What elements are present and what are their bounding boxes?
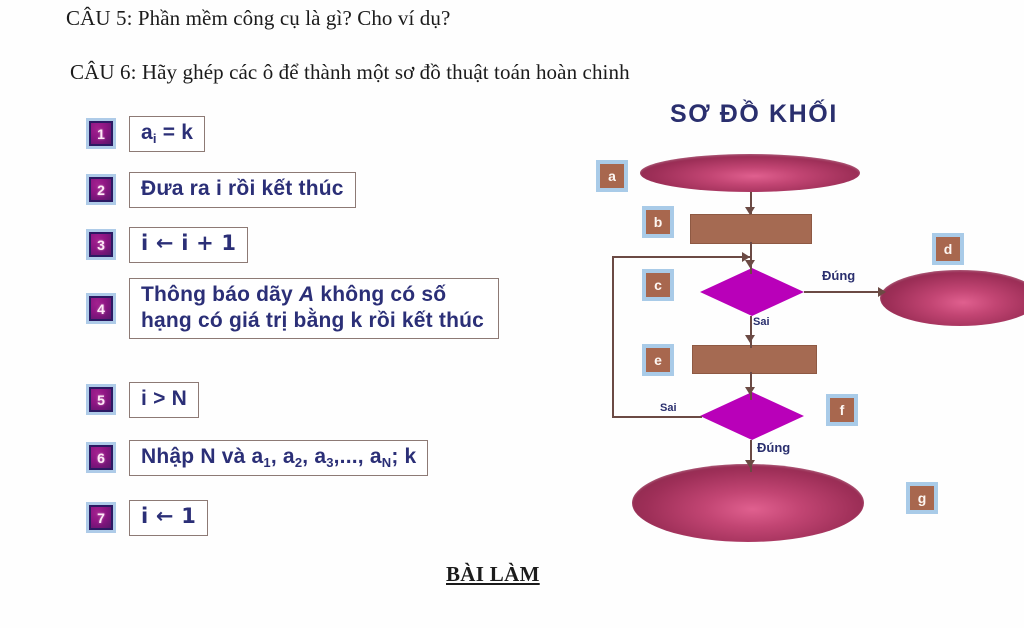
flow-decision-diamond-f: [700, 392, 804, 440]
piece-number-badge: 1: [86, 118, 116, 149]
flow-process-box-e: [692, 345, 817, 374]
flow-start-oval: [640, 154, 860, 192]
piece-number-badge: 7: [86, 502, 116, 533]
piece-text-box[interactable]: Nhập N và a1, a2, a3,..., aN; k: [129, 440, 428, 476]
flow-decision-diamond-c: [700, 268, 804, 316]
connector-c-to-d: [804, 291, 884, 293]
piece-number-badge: 4: [86, 293, 116, 324]
edge-label-c-true: Đúng: [822, 268, 855, 283]
list-item[interactable]: 1 ai = k: [86, 116, 205, 152]
piece-text-box[interactable]: i ← 1: [129, 500, 208, 536]
piece-text-box[interactable]: i > N: [129, 382, 199, 418]
edge-label-f-true: Đúng: [757, 440, 790, 455]
flow-process-box-b: [690, 214, 812, 244]
flow-end-oval-g: [632, 464, 864, 542]
connector-b-to-c: [750, 242, 752, 274]
edge-label-f-false: Sai: [660, 402, 677, 414]
flowchart-title: SƠ ĐỒ KHỐI: [670, 100, 838, 129]
piece-text-box[interactable]: ai = k: [129, 116, 205, 152]
flow-badge-b-label: b: [649, 213, 667, 231]
flowchart-diagram: SƠ ĐỒ KHỐI Đúng Sai Sai Đúng a b c d: [590, 92, 1024, 562]
connector-e-to-f: [750, 372, 752, 400]
flow-badge-g-label: g: [913, 489, 931, 507]
piece-text-box[interactable]: Đưa ra i rồi kết thúc: [129, 172, 356, 208]
question-5-heading: CÂU 5: Phần mềm công cụ là gì? Cho ví dụ…: [66, 6, 450, 31]
list-item[interactable]: 7 i ← 1: [86, 500, 208, 536]
flow-badge-f[interactable]: f: [826, 394, 858, 426]
loop-bottom-segment: [612, 416, 702, 418]
flow-badge-f-label: f: [833, 401, 851, 419]
piece-number-badge: 5: [86, 384, 116, 415]
piece-number-badge: 2: [86, 174, 116, 205]
arrowhead-c-to-d: [878, 287, 886, 297]
arrowhead-loop-join: [742, 252, 750, 262]
arrowhead-c-to-e: [745, 335, 755, 343]
list-item[interactable]: 3 i ← i + 1: [86, 227, 248, 263]
flow-badge-g[interactable]: g: [906, 482, 938, 514]
piece-text-box[interactable]: Thông báo dãy A không có số hạng có giá …: [129, 278, 499, 339]
flow-badge-c[interactable]: c: [642, 269, 674, 301]
list-item[interactable]: 2 Đưa ra i rồi kết thúc: [86, 172, 356, 208]
list-item[interactable]: 6 Nhập N và a1, a2, a3,..., aN; k: [86, 440, 428, 476]
arrowhead-f-to-end: [745, 460, 755, 468]
flow-badge-d[interactable]: d: [932, 233, 964, 265]
flow-badge-a[interactable]: a: [596, 160, 628, 192]
arrowhead-e-to-f: [745, 387, 755, 395]
flow-output-oval-d: [880, 270, 1024, 326]
flow-badge-b[interactable]: b: [642, 206, 674, 238]
loop-top-segment: [612, 256, 750, 258]
flow-badge-a-label: a: [603, 167, 621, 185]
bai-lam-label: BÀI LÀM: [446, 562, 540, 587]
list-item[interactable]: 5 i > N: [86, 382, 199, 418]
piece-number-badge: 6: [86, 442, 116, 473]
flow-badge-e-label: e: [649, 351, 667, 369]
connector-c-to-e: [750, 316, 752, 348]
edge-label-c-false: Sai: [753, 316, 770, 328]
piece-number-badge: 3: [86, 229, 116, 260]
flow-badge-c-label: c: [649, 276, 667, 294]
flow-badge-d-label: d: [939, 240, 957, 258]
flow-badge-e[interactable]: e: [642, 344, 674, 376]
loop-left-segment: [612, 256, 614, 417]
list-item[interactable]: 4 Thông báo dãy A không có số hạng có gi…: [86, 278, 499, 339]
arrowhead-start-to-b: [745, 207, 755, 215]
question-6-heading: CÂU 6: Hãy ghép các ô để thành một sơ đồ…: [70, 60, 630, 85]
piece-text-box[interactable]: i ← i + 1: [129, 227, 248, 263]
